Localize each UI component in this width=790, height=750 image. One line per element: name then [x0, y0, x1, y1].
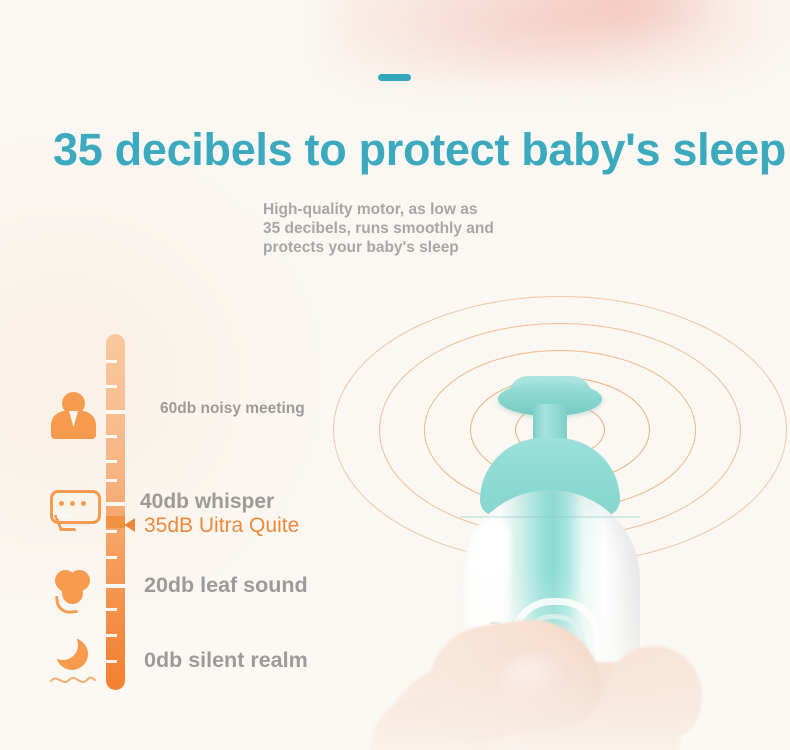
highlight-arrow-icon [124, 518, 135, 532]
clover-leaves [48, 565, 98, 615]
bar-tick [106, 460, 117, 463]
subtitle-line-1: High-quality motor, as low as [263, 200, 593, 219]
background-blur-pink-accent [520, 0, 730, 50]
bar-tick [106, 360, 117, 363]
product-seam [460, 516, 640, 518]
bar-gap-40db [106, 502, 125, 506]
subtitle-line-3: protects your baby's sleep [263, 238, 593, 257]
scale-label-20db: 20db leaf sound [144, 573, 308, 598]
scale-label-0db: 0db silent realm [144, 648, 308, 673]
decibel-comparison-scale: 60db noisy meeting 40db whisper 35dB Uit… [48, 334, 348, 696]
infographic-canvas: 35 decibels to protect baby's sleep High… [0, 0, 790, 750]
moon-shape [52, 638, 92, 672]
sleep-wave-icon [50, 674, 96, 686]
speech-bubble-icon [48, 484, 98, 534]
scale-label-60db: 60db noisy meeting [160, 400, 305, 418]
bar-gap-60db [106, 410, 125, 414]
businessman-icon [48, 390, 98, 440]
divider-dash-icon [378, 74, 411, 81]
bar-highlight-35db [106, 516, 125, 528]
bar-tick [106, 479, 117, 482]
bar-gap-20db [106, 584, 125, 588]
page-subtitle: High-quality motor, as low as 35 decibel… [263, 200, 593, 257]
speech-bubble-dot [70, 501, 75, 506]
page-title: 35 decibels to protect baby's sleep [53, 124, 753, 176]
speech-bubble-dot [81, 501, 86, 506]
speech-bubble-dot [59, 501, 64, 506]
bar-tick [106, 385, 117, 388]
scale-label-35db-highlight: 35dB Uitra Quite [144, 514, 299, 538]
clover-stem [55, 594, 78, 615]
bar-tick [106, 634, 117, 637]
bar-tick [106, 608, 117, 611]
scale-label-40db: 40db whisper [140, 490, 274, 514]
subtitle-line-2: 35 decibels, runs smoothly and [263, 219, 593, 238]
bar-tick [106, 660, 117, 663]
crescent-moon-icon [48, 636, 98, 686]
bar-tick [106, 530, 117, 533]
bar-tick [106, 435, 117, 438]
speech-bubble-tail-mask [57, 513, 73, 518]
bar-tick [106, 556, 117, 559]
clover-leaf-icon [48, 565, 98, 615]
